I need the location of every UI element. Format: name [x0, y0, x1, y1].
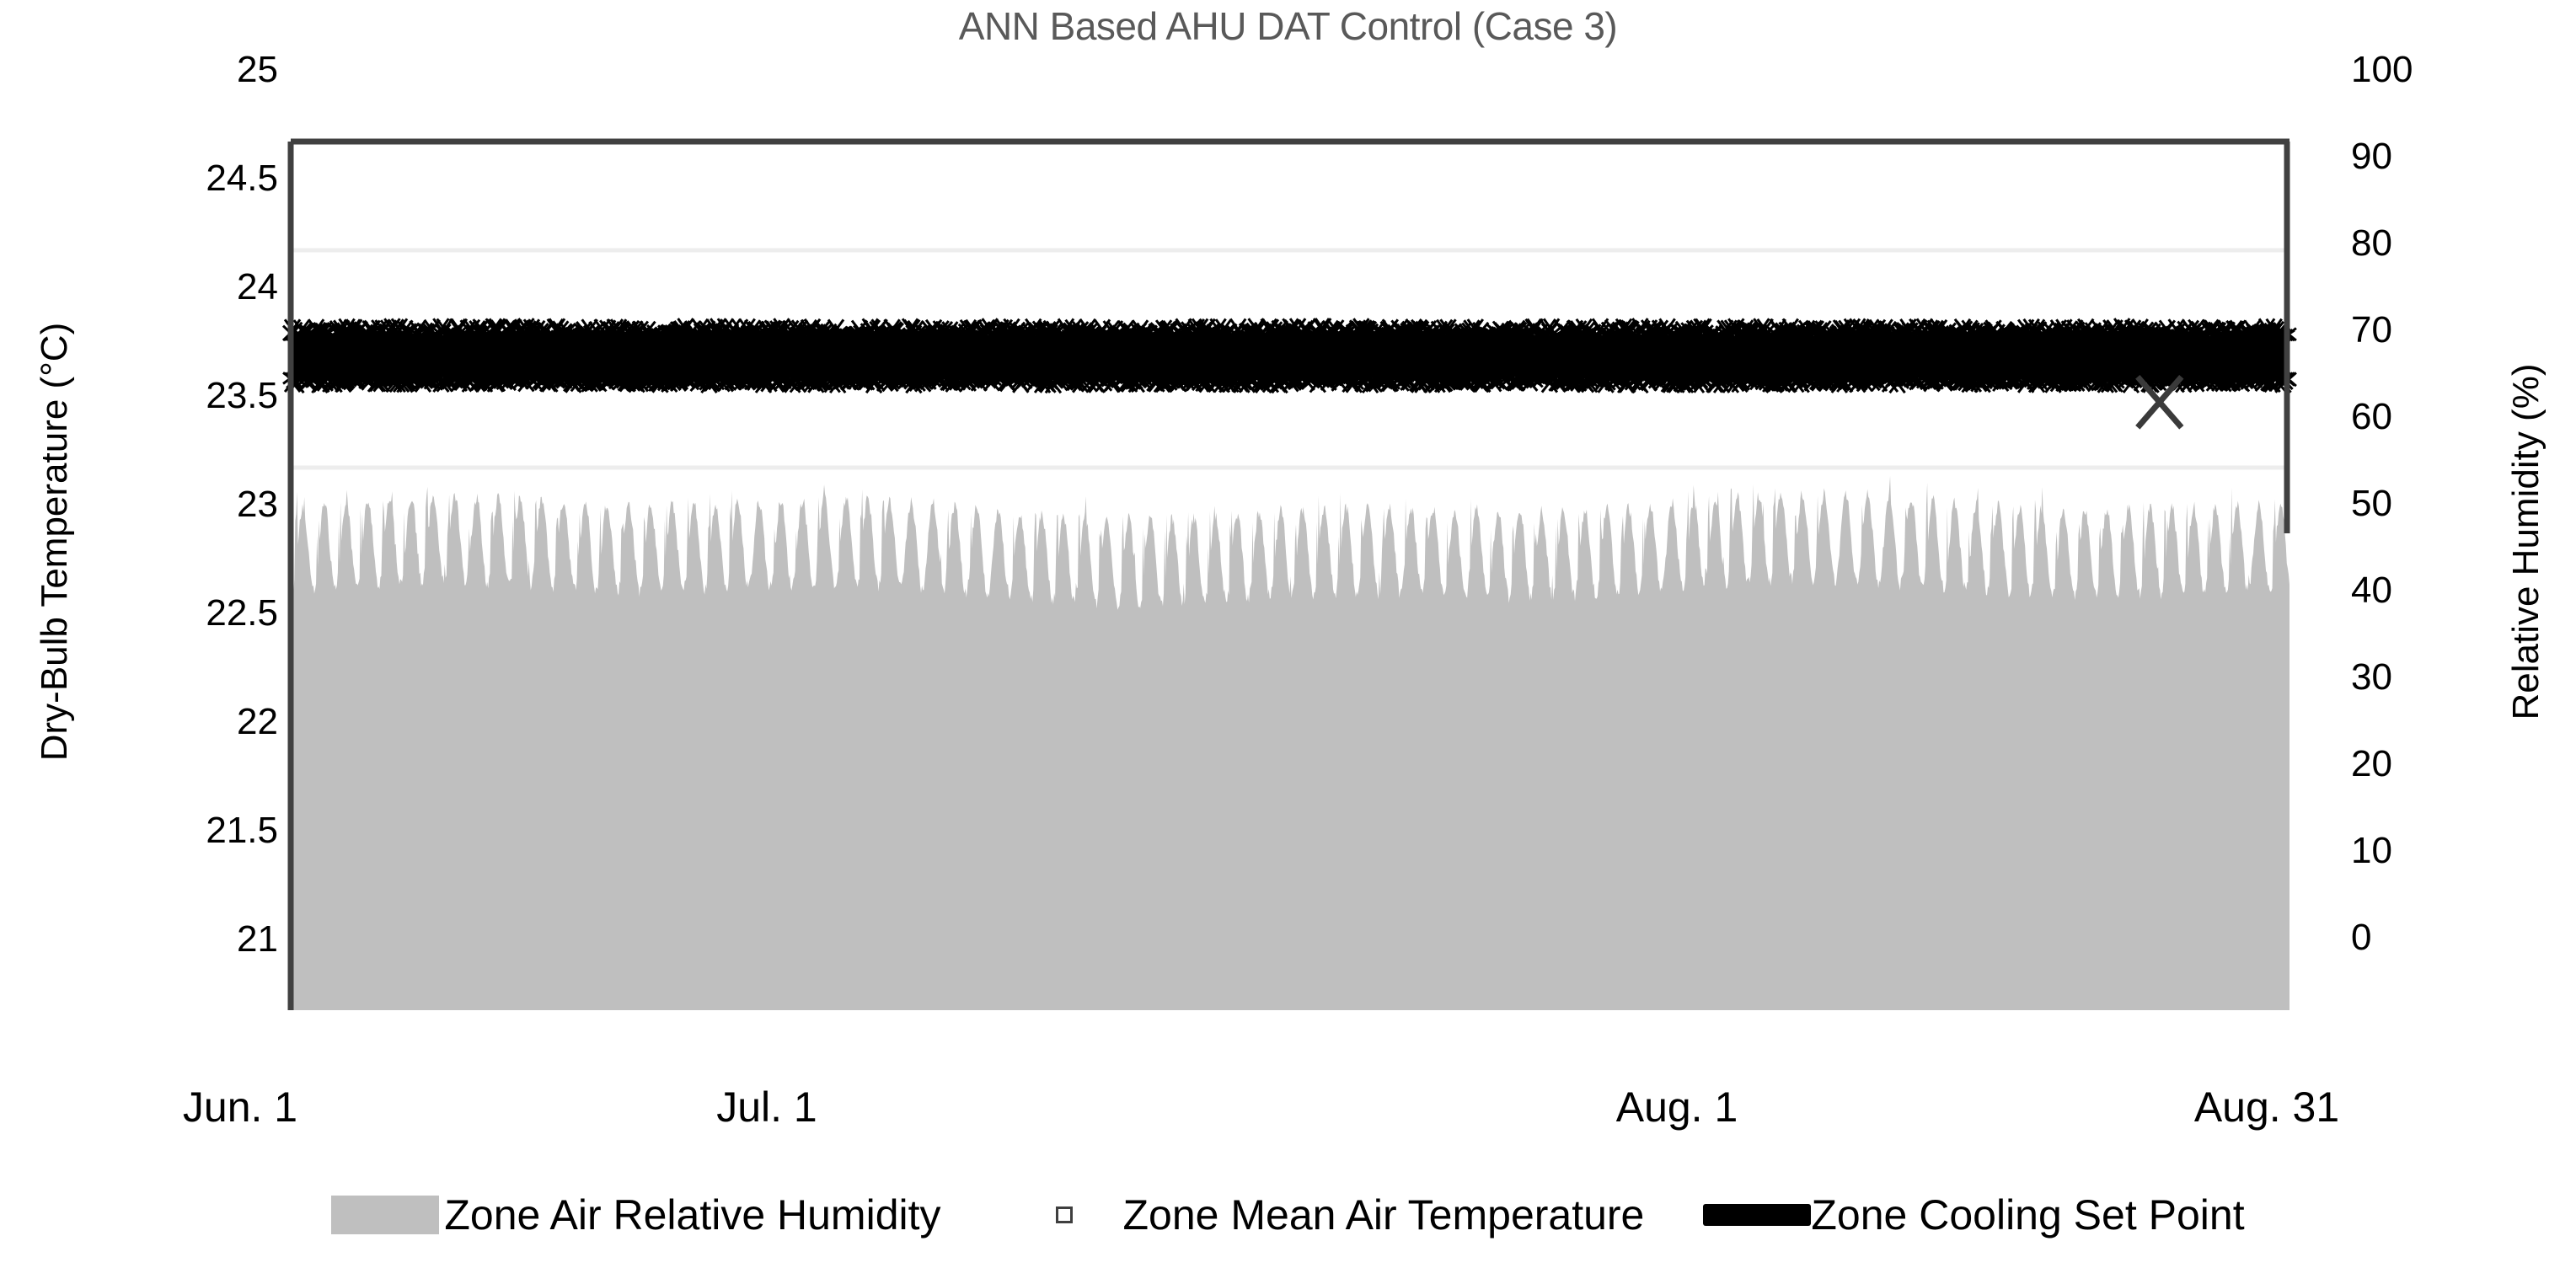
y-axis-left-tick-24-5: 24.5 — [93, 158, 278, 200]
legend-label-humidity: Zone Air Relative Humidity — [444, 1194, 940, 1236]
legend-item-zone-air-relative-humidity[interactable]: Zone Air Relative Humidity — [331, 1194, 940, 1236]
legend-item-zone-cooling-set-point[interactable]: Zone Cooling Set Point — [1703, 1194, 2244, 1236]
y-axis-left-title: Dry-Bulb Temperature (°C) — [34, 306, 76, 778]
y-axis-right-tick-60: 60 — [2351, 396, 2536, 438]
y-axis-left-tick-22: 22 — [93, 701, 278, 743]
series-zone-air-relative-humidity — [291, 476, 2289, 1010]
legend-item-zone-mean-air-temperature[interactable]: Zone Mean Air Temperature — [1010, 1194, 1645, 1236]
y-axis-right-tick-90: 90 — [2351, 136, 2536, 178]
plot-area — [291, 142, 2289, 1010]
chart-legend: Zone Air Relative Humidity Zone Mean Air… — [0, 1181, 2576, 1249]
y-axis-right-tick-0: 0 — [2351, 917, 2536, 959]
y-axis-left-tick-23-5: 23.5 — [93, 375, 278, 417]
legend-label-setpoint: Zone Cooling Set Point — [1811, 1194, 2244, 1236]
x-axis-tick-jul-1: Jul. 1 — [303, 1083, 1230, 1132]
y-axis-right-title: Relative Humidity (%) — [2505, 306, 2547, 778]
thick-line-icon — [1703, 1196, 1811, 1234]
y-axis-right-tick-30: 30 — [2351, 656, 2536, 698]
y-axis-right-tick-100: 100 — [2351, 49, 2536, 91]
y-axis-right-tick-40: 40 — [2351, 570, 2536, 612]
chart-title: ANN Based AHU DAT Control (Case 3) — [0, 3, 2576, 49]
y-axis-right-tick-20: 20 — [2351, 743, 2536, 785]
y-axis-left-tick-23: 23 — [93, 484, 278, 526]
y-axis-right-tick-50: 50 — [2351, 483, 2536, 525]
area-swatch-icon — [331, 1196, 439, 1234]
chart-figure: ANN Based AHU DAT Control (Case 3) Dry-B… — [0, 0, 2576, 1268]
y-axis-left-tick-24: 24 — [93, 266, 278, 308]
legend-label-temperature: Zone Mean Air Temperature — [1123, 1194, 1645, 1236]
y-axis-right-tick-70: 70 — [2351, 309, 2536, 351]
y-axis-left-tick-21-5: 21.5 — [93, 810, 278, 852]
y-axis-left-tick-25: 25 — [93, 49, 278, 91]
open-square-marker-icon — [1010, 1196, 1118, 1234]
x-axis-tick-aug-31: Aug. 31 — [1963, 1083, 2570, 1132]
y-axis-right-tick-80: 80 — [2351, 222, 2536, 265]
y-axis-left-tick-21: 21 — [93, 918, 278, 960]
y-axis-left-tick-22-5: 22.5 — [93, 592, 278, 634]
y-axis-right-tick-10: 10 — [2351, 830, 2536, 872]
series-zone-mean-air-temperature — [283, 318, 2296, 427]
